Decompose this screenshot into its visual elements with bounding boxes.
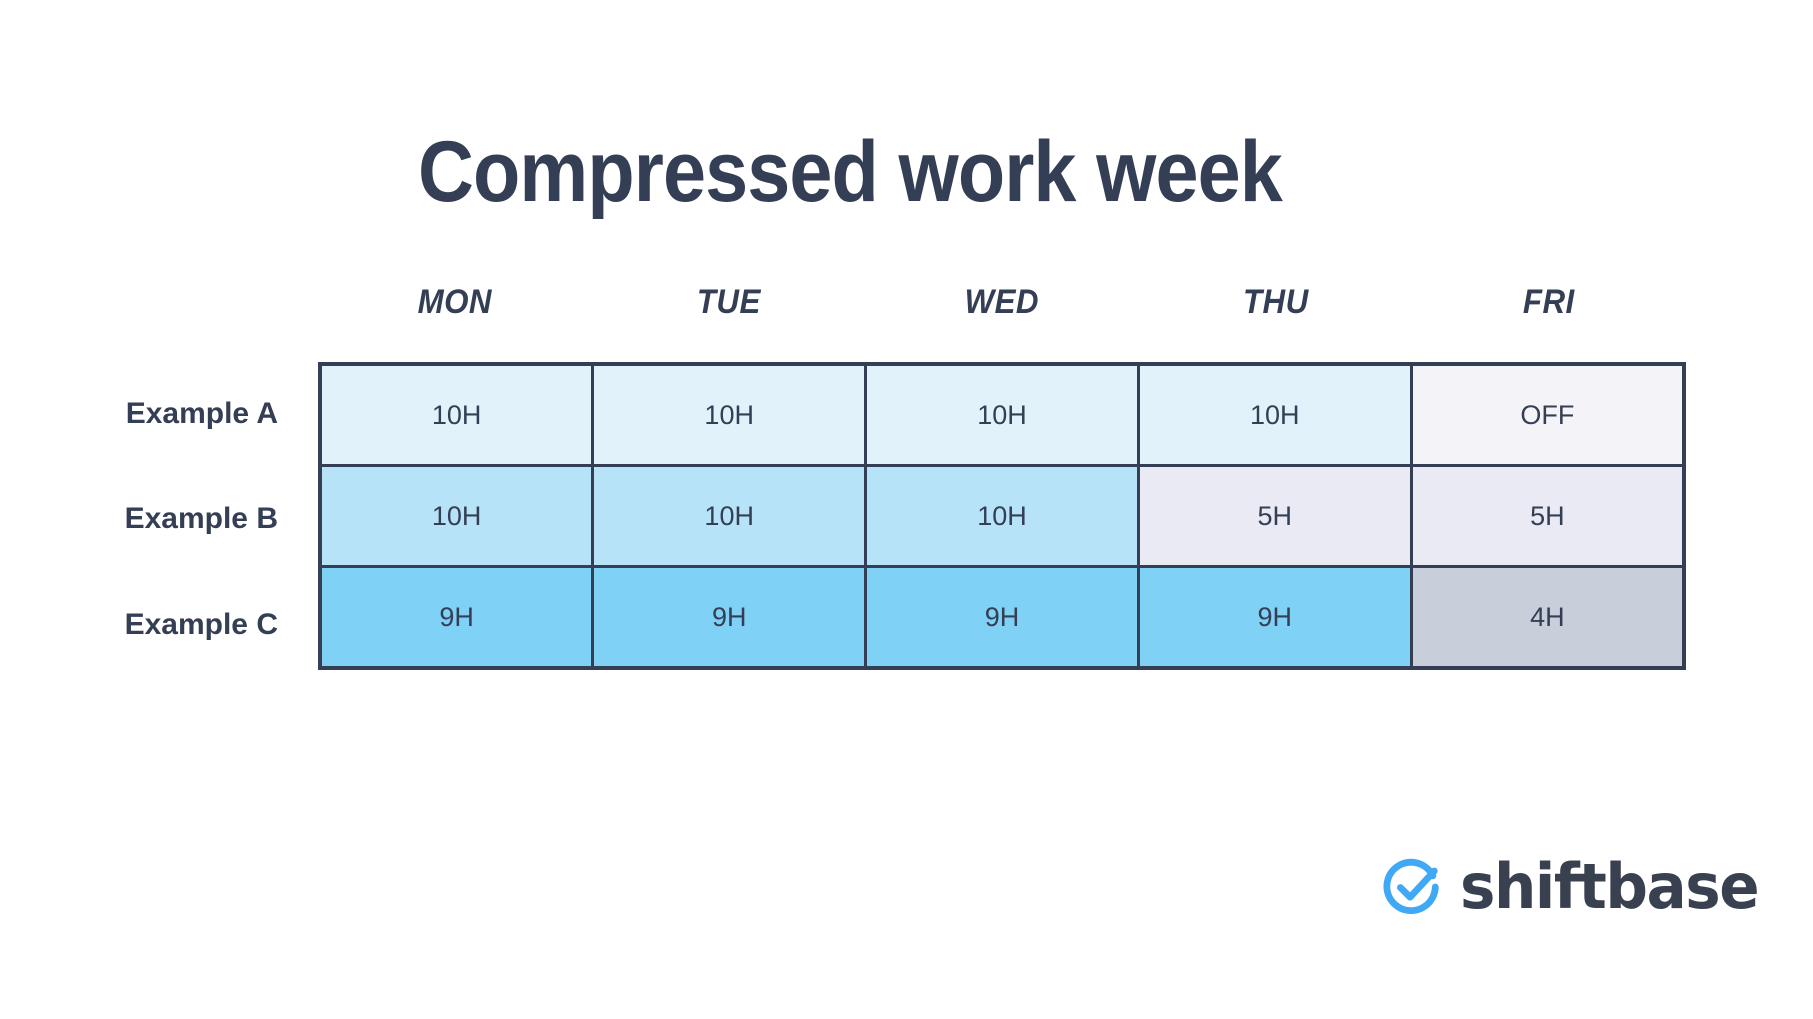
page-title: Compressed work week xyxy=(85,124,1615,220)
schedule-cell: 5H xyxy=(1138,466,1411,567)
schedule-table-body: 10H10H10H10HOFF10H10H10H5H5H9H9H9H9H4H xyxy=(320,364,1684,668)
shiftbase-wordmark: shiftbase xyxy=(1460,856,1758,918)
schedule-cell: 10H xyxy=(593,466,866,567)
schedule-cell: OFF xyxy=(1411,364,1684,466)
schedule-cell: 9H xyxy=(866,567,1139,669)
day-header-mon: MON xyxy=(329,282,581,322)
day-header-thu: THU xyxy=(1150,282,1402,322)
row-label-column: Example AExample BExample C xyxy=(40,362,298,678)
schedule-table-wrapper: 10H10H10H10HOFF10H10H10H5H5H9H9H9H9H4H xyxy=(318,362,1686,670)
schedule-cell: 4H xyxy=(1411,567,1684,669)
schedule-table: 10H10H10H10HOFF10H10H10H5H5H9H9H9H9H4H xyxy=(318,362,1686,670)
schedule-cell: 10H xyxy=(1138,364,1411,466)
row-label-2: Example B xyxy=(40,466,298,572)
day-header-fri: FRI xyxy=(1423,282,1675,322)
schedule-cell: 9H xyxy=(320,567,593,669)
row-label-3: Example C xyxy=(40,572,298,678)
infographic-canvas: Compressed work week MONTUEWEDTHUFRI Exa… xyxy=(0,0,1813,1019)
day-header-wed: WED xyxy=(876,282,1128,322)
schedule-cell: 10H xyxy=(866,466,1139,567)
schedule-cell: 5H xyxy=(1411,466,1684,567)
shiftbase-logo: shiftbase xyxy=(1382,856,1771,918)
table-row: 10H10H10H10HOFF xyxy=(320,364,1684,466)
check-circle-icon xyxy=(1382,856,1444,918)
schedule-cell: 10H xyxy=(320,364,593,466)
schedule-cell: 9H xyxy=(593,567,866,669)
schedule-cell: 10H xyxy=(866,364,1139,466)
table-row: 10H10H10H5H5H xyxy=(320,466,1684,567)
table-row: 9H9H9H9H4H xyxy=(320,567,1684,669)
day-header-tue: TUE xyxy=(603,282,855,322)
schedule-cell: 9H xyxy=(1138,567,1411,669)
schedule-cell: 10H xyxy=(320,466,593,567)
row-label-1: Example A xyxy=(40,362,298,466)
schedule-cell: 10H xyxy=(593,364,866,466)
day-header-row: MONTUEWEDTHUFRI xyxy=(318,282,1686,322)
